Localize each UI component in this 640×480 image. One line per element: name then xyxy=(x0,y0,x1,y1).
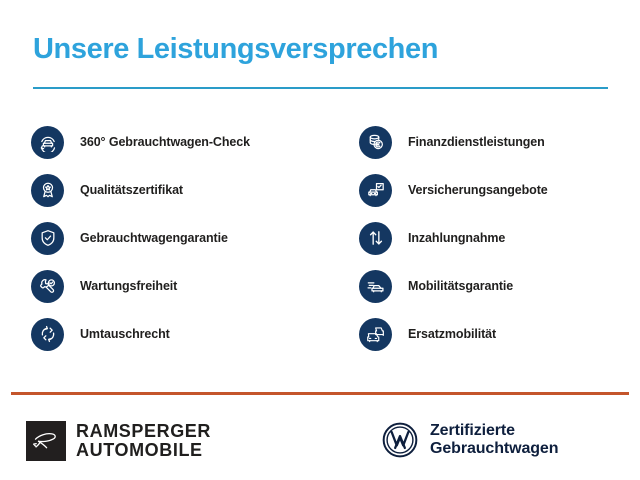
benefit-item-inzahlungnahme[interactable]: Inzahlungnahme xyxy=(359,214,639,262)
benefit-item-wartungsfreiheit[interactable]: Wartungsfreiheit xyxy=(31,262,331,310)
benefit-label: Wartungsfreiheit xyxy=(80,279,177,293)
exchange-arrows-icon xyxy=(31,318,64,351)
benefit-item-umtauschrecht[interactable]: Umtauschrecht xyxy=(31,310,331,358)
benefit-label: 360° Gebrauchtwagen-Check xyxy=(80,135,250,149)
benefits-left-column: 360° Gebrauchtwagen-Check Qualitätszerti… xyxy=(31,118,331,358)
vw-line1: Zertifizierte xyxy=(430,422,558,440)
car-motion-icon xyxy=(359,270,392,303)
ramsperger-logo[interactable]: RAMSPERGER AUTOMOBILE xyxy=(26,421,211,461)
title-divider xyxy=(33,87,608,89)
ramsperger-line1: RAMSPERGER xyxy=(76,422,211,441)
footer-divider xyxy=(11,392,629,395)
award-rosette-icon xyxy=(31,174,64,207)
ramsperger-line2: AUTOMOBILE xyxy=(76,441,211,460)
volkswagen-wordmark: Zertifizierte Gebrauchtwagen xyxy=(430,422,558,458)
benefit-label: Versicherungsangebote xyxy=(408,183,548,197)
benefit-item-qualitaetszertifikat[interactable]: Qualitätszertifikat xyxy=(31,166,331,214)
wrench-check-icon xyxy=(31,270,64,303)
ramsperger-r-mark-icon xyxy=(26,421,66,461)
benefit-label: Inzahlungnahme xyxy=(408,231,505,245)
benefit-item-gebrauchtwagengarantie[interactable]: Gebrauchtwagengarantie xyxy=(31,214,331,262)
two-cars-icon xyxy=(359,318,392,351)
benefits-right-column: Finanzdienstleistungen Versicherungsange… xyxy=(359,118,639,358)
shield-check-icon xyxy=(31,222,64,255)
volkswagen-roundel-icon xyxy=(381,421,419,459)
benefits-slide: Unsere Leistungsversprechen 360° Gebrauc… xyxy=(0,0,640,480)
benefit-item-mobilitaetsgarantie[interactable]: Mobilitätsgarantie xyxy=(359,262,639,310)
benefit-item-ersatzmobilitaet[interactable]: Ersatzmobilität xyxy=(359,310,639,358)
benefit-item-finanzdienstleistungen[interactable]: Finanzdienstleistungen xyxy=(359,118,639,166)
up-down-arrows-icon xyxy=(359,222,392,255)
benefit-label: Qualitätszertifikat xyxy=(80,183,183,197)
benefit-label: Mobilitätsgarantie xyxy=(408,279,513,293)
benefit-item-gebrauchtwagen-check[interactable]: 360° Gebrauchtwagen-Check xyxy=(31,118,331,166)
benefit-item-versicherungsangebote[interactable]: Versicherungsangebote xyxy=(359,166,639,214)
car-checklist-icon xyxy=(359,174,392,207)
page-title: Unsere Leistungsversprechen xyxy=(33,33,438,66)
benefit-label: Umtauschrecht xyxy=(80,327,170,341)
coins-euro-icon xyxy=(359,126,392,159)
benefit-label: Ersatzmobilität xyxy=(408,327,496,341)
benefit-label: Gebrauchtwagengarantie xyxy=(80,231,228,245)
benefit-label: Finanzdienstleistungen xyxy=(408,135,545,149)
vw-line2: Gebrauchtwagen xyxy=(430,440,558,458)
car-360-check-icon xyxy=(31,126,64,159)
ramsperger-wordmark: RAMSPERGER AUTOMOBILE xyxy=(76,422,211,460)
volkswagen-logo[interactable]: Zertifizierte Gebrauchtwagen xyxy=(381,421,558,459)
